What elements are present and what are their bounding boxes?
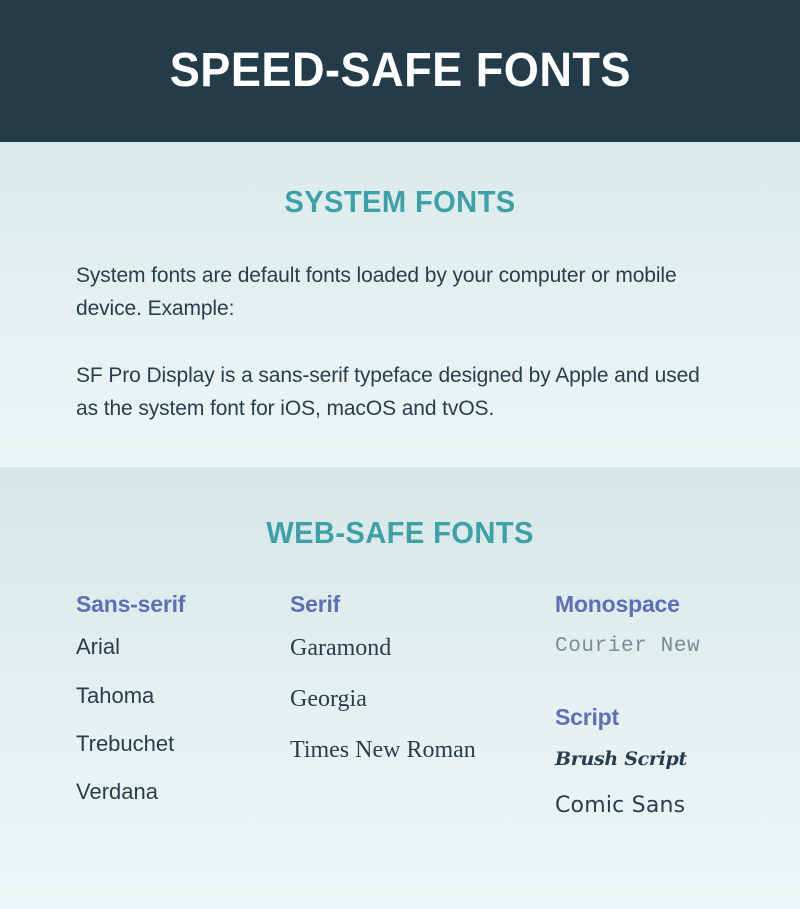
system-fonts-paragraph-2: SF Pro Display is a sans-serif typeface … — [76, 359, 724, 425]
font-column-monospace-script: Monospace Courier New Script Brush Scrip… — [555, 592, 740, 819]
font-item-times-new-roman: Times New Roman — [290, 736, 555, 765]
header-band: SPEED-SAFE FONTS — [0, 0, 800, 142]
column-title-script: Script — [555, 705, 740, 730]
system-fonts-section: SYSTEM FONTS System fonts are default fo… — [0, 142, 800, 467]
system-fonts-paragraph-1: System fonts are default fonts loaded by… — [76, 259, 724, 325]
font-item-brush-script: Brush Script — [555, 748, 740, 771]
web-safe-fonts-section: WEB-SAFE FONTS Sans-serif Arial Tahoma T… — [0, 467, 800, 909]
infographic-poster: SPEED-SAFE FONTS SYSTEM FONTS System fon… — [0, 0, 800, 909]
font-item-comic-sans: Comic Sans — [555, 793, 740, 819]
page-title: SPEED-SAFE FONTS — [169, 47, 630, 95]
column-title-serif: Serif — [290, 592, 555, 617]
font-item-trebuchet: Trebuchet — [76, 731, 290, 757]
font-column-serif: Serif Garamond Georgia Times New Roman — [290, 592, 555, 819]
column-title-monospace: Monospace — [555, 592, 740, 617]
web-safe-fonts-heading: WEB-SAFE FONTS — [80, 467, 719, 548]
font-item-verdana: Verdana — [76, 779, 290, 805]
font-item-tahoma: Tahoma — [76, 683, 290, 709]
font-column-sans-serif: Sans-serif Arial Tahoma Trebuchet Verdan… — [76, 592, 290, 819]
column-title-sans-serif: Sans-serif — [76, 592, 290, 617]
system-fonts-heading: SYSTEM FONTS — [95, 142, 704, 217]
font-item-courier-new: Courier New — [555, 634, 740, 659]
font-item-georgia: Georgia — [290, 685, 555, 714]
font-item-garamond: Garamond — [290, 634, 555, 663]
font-category-columns: Sans-serif Arial Tahoma Trebuchet Verdan… — [60, 592, 740, 819]
font-item-arial: Arial — [76, 634, 290, 660]
